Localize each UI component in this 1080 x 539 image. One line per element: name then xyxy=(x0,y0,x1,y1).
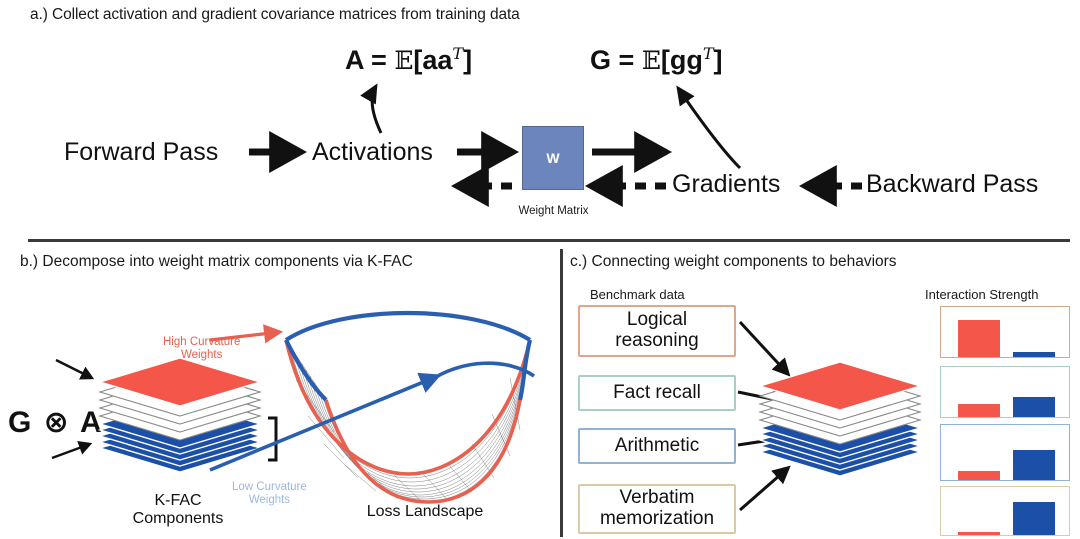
interaction-chart-logical-reasoning xyxy=(940,306,1070,358)
arrow-kron-to-bottom xyxy=(52,444,90,458)
bar-low-curvature xyxy=(1013,352,1055,357)
interaction-chart-verbatim-memorization xyxy=(940,486,1070,536)
benchmark-box-fact-recall[interactable]: Fact recall xyxy=(578,375,736,411)
weight-component-stack xyxy=(760,360,940,495)
panel-a-flow-arrows xyxy=(0,0,1080,240)
vertical-divider xyxy=(560,249,563,537)
high-curvature-rim-front xyxy=(286,340,530,474)
bar-low-curvature xyxy=(1013,450,1055,480)
arrow-kron-to-top xyxy=(56,360,92,378)
loss-landscape-caption: Loss Landscape xyxy=(345,503,505,521)
weight-matrix-symbol: W xyxy=(546,150,559,166)
horizontal-divider xyxy=(28,239,1070,242)
panel-b-title: b.) Decompose into weight matrix compone… xyxy=(20,253,413,271)
weight-matrix-block: W xyxy=(522,126,584,190)
bar-high-curvature xyxy=(958,404,1000,417)
bar-high-curvature xyxy=(958,320,1000,357)
interaction-chart-fact-recall xyxy=(940,366,1070,418)
benchmark-data-header: Benchmark data xyxy=(590,287,685,302)
bar-high-curvature xyxy=(958,532,1000,535)
high-curvature-rim-back xyxy=(326,400,520,502)
benchmark-box-arithmetic[interactable]: Arithmetic xyxy=(578,428,736,464)
bar-low-curvature xyxy=(1013,502,1055,535)
benchmark-label-line1: Logical xyxy=(615,310,698,331)
interaction-chart-arithmetic xyxy=(940,424,1070,481)
kfac-caption: K-FAC Components xyxy=(113,492,243,529)
benchmark-label-line1: Fact recall xyxy=(613,383,701,404)
bar-low-curvature xyxy=(1013,397,1055,417)
benchmark-label-line2: memorization xyxy=(600,509,714,530)
benchmark-label-line1: Verbatim xyxy=(600,488,714,509)
figure-root: a.) Collect activation and gradient cova… xyxy=(0,0,1080,539)
bar-high-curvature xyxy=(958,471,1000,480)
benchmark-box-logical-reasoning[interactable]: Logical reasoning xyxy=(578,305,736,357)
benchmark-label-line2: reasoning xyxy=(615,331,698,352)
weight-matrix-caption: Weight Matrix xyxy=(506,205,601,217)
benchmark-label-line1: Arithmetic xyxy=(615,436,699,457)
panel-c-title: c.) Connecting weight components to beha… xyxy=(570,253,897,271)
kfac-caption-line2: Components xyxy=(113,510,243,528)
kronecker-expression: G ⊗ A xyxy=(8,405,104,440)
loss-landscape-surface xyxy=(272,292,542,507)
kfac-caption-line1: K-FAC xyxy=(113,492,243,510)
low-curvature-top-ridge xyxy=(286,313,530,340)
benchmark-box-verbatim-memorization[interactable]: Verbatim memorization xyxy=(578,484,736,534)
